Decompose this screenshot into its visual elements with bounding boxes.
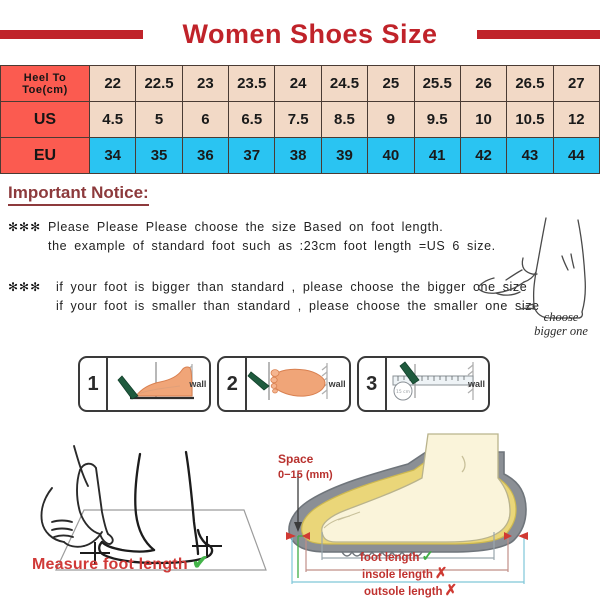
size-table: Heel To Toe(cm) 22 22.5 23 23.5 24 24.5 … [0,65,600,174]
cell-us-9: 10.5 [507,102,553,138]
check-mark-icon: ✓ [421,548,434,565]
cell-us-2: 6 [182,102,228,138]
insole-length-label: insole length [362,569,433,581]
page-title-row: Women Shoes Size [0,14,600,54]
table-row: US 4.5 5 6 6.5 7.5 8.5 9 9.5 10 10.5 12 [1,102,600,138]
cell-us-0: 4.5 [90,102,136,138]
cell-us-4: 7.5 [275,102,321,138]
row-label-heel-to-toe: Heel To Toe(cm) [1,66,90,102]
notice-text: Please Please Please choose the size Bas… [48,218,443,237]
cell-eu-8: 42 [460,138,506,174]
step-number-2: 2 [219,358,247,410]
cell-eu-9: 43 [507,138,553,174]
notice-heading: Important Notice: [8,184,149,206]
cell-heel-5: 24.5 [321,66,367,102]
bullet-spacer: ✻✻✻ [8,297,48,316]
measure-caption-text: Measure foot length [32,556,188,573]
choose-line-2: bigger one [534,324,588,338]
cell-eu-2: 36 [182,138,228,174]
outsole-length-label: outsole length [364,586,443,598]
cell-us-1: 5 [136,102,182,138]
cell-eu-10: 44 [553,138,599,174]
notice-block-2: ✻✻✻ if your foot is bigger than standard… [8,278,528,316]
cross-mark-icon: ✗ [445,582,458,599]
cell-heel-10: 27 [553,66,599,102]
cell-heel-1: 22.5 [136,66,182,102]
cell-eu-6: 40 [368,138,414,174]
bullet-spacer: ✻✻✻ [8,237,48,256]
row-label-eu: EU [1,138,90,174]
cell-heel-2: 23 [182,66,228,102]
page-title: Women Shoes Size [143,21,477,48]
cross-mark-icon: ✗ [435,565,448,582]
step-panel-2: 2 [217,356,350,412]
step-number-1: 1 [80,358,108,410]
cell-heel-6: 25 [368,66,414,102]
cell-eu-5: 39 [321,138,367,174]
measure-steps: 1 wall [78,356,490,408]
wall-label-1: wall [189,379,206,389]
cell-us-3: 6.5 [229,102,275,138]
row-label-us: US [1,102,90,138]
notice-line: ✻✻✻ if your foot is smaller than standar… [8,297,528,316]
notice-line: ✻✻✻ if your foot is bigger than standard… [8,278,528,297]
cell-heel-7: 25.5 [414,66,460,102]
measure-foot-caption: Measure foot length✔ [32,550,209,575]
step-2-illustration: wall [247,358,348,410]
space-title: Space [278,452,313,466]
wall-label-2: wall [329,379,346,389]
cell-eu-3: 37 [229,138,275,174]
wall-label-3: wall [468,379,485,389]
important-notice: Important Notice: ✻✻✻ Please Please Plea… [8,184,528,316]
cell-eu-1: 35 [136,138,182,174]
outsole-length-legend: outsole length✗ [360,583,457,600]
asterisk-bullet-icon: ✻✻✻ [8,218,48,237]
cell-eu-0: 34 [90,138,136,174]
space-value: 0−15 (mm) [278,469,333,481]
notice-block-1: ✻✻✻ Please Please Please choose the size… [8,218,528,256]
cell-us-6: 9 [368,102,414,138]
cell-us-5: 8.5 [321,102,367,138]
title-rule-right [477,30,600,39]
table-row: Heel To Toe(cm) 22 22.5 23 23.5 24 24.5 … [1,66,600,102]
check-mark-icon: ✔ [192,552,209,574]
asterisk-bullet-icon: ✻✻✻ [8,278,48,297]
notice-line: ✻✻✻ Please Please Please choose the size… [8,218,528,237]
cell-heel-3: 23.5 [229,66,275,102]
step-3-illustration: 15 cm wall [387,358,488,410]
cell-heel-8: 26 [460,66,506,102]
choose-line-1: choose [544,310,579,324]
step-panel-3: 3 [357,356,490,412]
space-callout: Space 0−15 (mm) [278,452,333,483]
notice-line: ✻✻✻ the example of standard foot such as… [8,237,528,256]
cell-eu-4: 38 [275,138,321,174]
cell-heel-0: 22 [90,66,136,102]
cell-us-7: 9.5 [414,102,460,138]
cell-eu-7: 41 [414,138,460,174]
notice-text: if your foot is smaller than standard , … [48,297,540,316]
cell-heel-4: 24 [275,66,321,102]
notice-text: the example of standard foot such as :23… [48,237,496,256]
step-1-illustration: wall [108,358,209,410]
step-panel-1: 1 wall [78,356,211,412]
choose-bigger-one-note: choose bigger one [518,310,600,338]
step-number-3: 3 [359,358,387,410]
table-row: EU 34 35 36 37 38 39 40 41 42 43 44 [1,138,600,174]
length-legend: foot length✓ insole length✗ outsole leng… [360,549,457,600]
foot-length-legend: foot length✓ [360,549,457,566]
size-chart-page: Women Shoes Size Heel To Toe(cm) 22 22.5… [0,0,600,600]
insole-length-legend: insole length✗ [360,566,457,583]
cell-us-10: 12 [553,102,599,138]
svg-text:15 cm: 15 cm [396,389,410,395]
title-rule-left [0,30,143,39]
cell-us-8: 10 [460,102,506,138]
foot-length-label: foot length [360,552,419,564]
notice-text: if your foot is bigger than standard , p… [48,278,527,297]
cell-heel-9: 26.5 [507,66,553,102]
